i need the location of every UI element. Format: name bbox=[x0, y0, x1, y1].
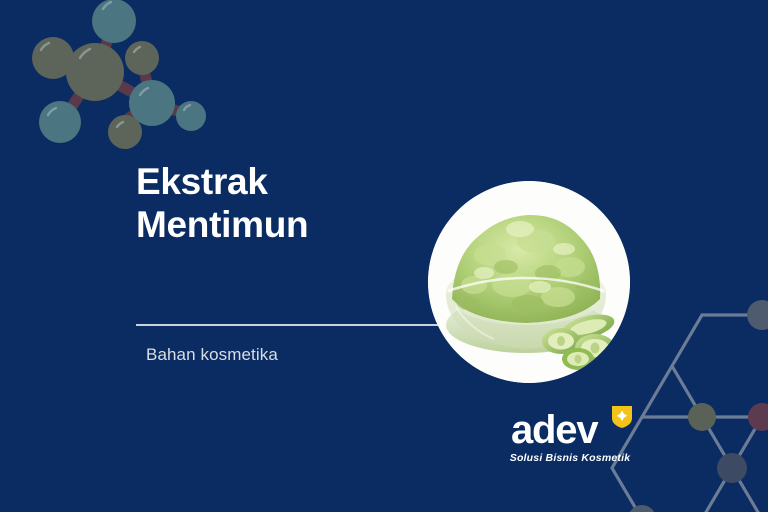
hexagon-nodes bbox=[628, 300, 768, 512]
cucumber-extract-illustration bbox=[428, 181, 630, 383]
shield-sparkle-icon bbox=[610, 404, 634, 430]
molecule-bonds bbox=[57, 25, 190, 118]
slide-canvas: Ekstrak Mentimun Bahan kosmetika bbox=[0, 0, 768, 512]
molecule-highlights bbox=[41, 2, 190, 127]
headline-block: Ekstrak Mentimun bbox=[136, 160, 446, 247]
hexagon-lines bbox=[612, 315, 768, 512]
brand-logo: adev Solusi Bisnis Kosmetik bbox=[508, 410, 632, 464]
molecule-graphic bbox=[0, 0, 222, 155]
title-divider bbox=[136, 324, 446, 326]
brand-tagline: Solusi Bisnis Kosmetik bbox=[508, 452, 632, 464]
product-image bbox=[428, 181, 630, 383]
molecule-nodes bbox=[32, 0, 206, 149]
brand-wordmark-row: adev bbox=[508, 410, 632, 450]
page-subtitle: Bahan kosmetika bbox=[146, 345, 278, 365]
page-title: Ekstrak Mentimun bbox=[136, 160, 446, 247]
